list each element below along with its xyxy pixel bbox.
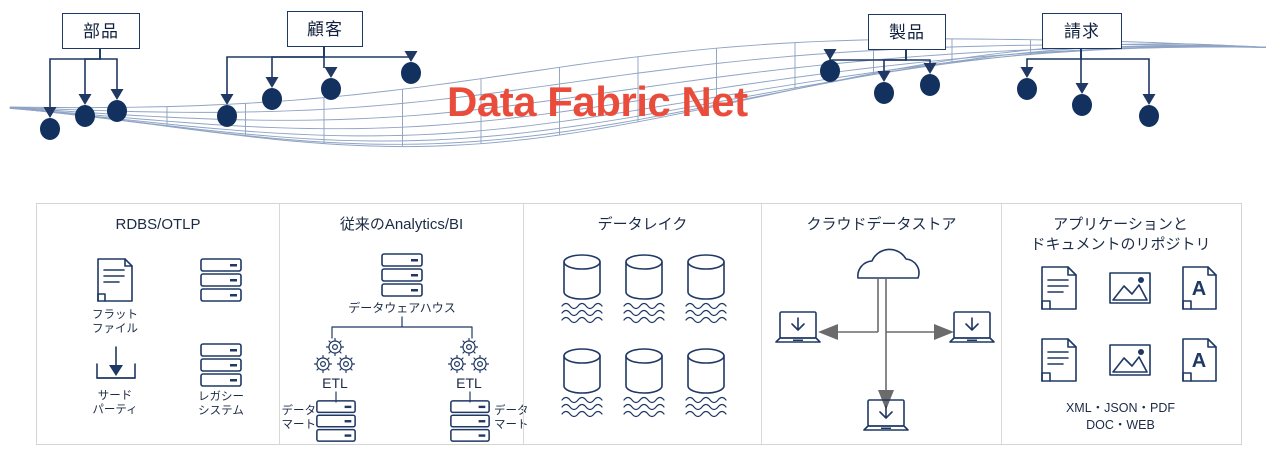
server-rack-icon <box>199 257 243 303</box>
data-lake-cylinder <box>680 252 732 328</box>
data-lake-cylinder <box>556 252 608 328</box>
panel-data-lake: データレイク <box>523 204 761 444</box>
image-document-icon <box>1108 264 1152 312</box>
cylinder-icon <box>564 349 600 393</box>
svg-text:A: A <box>1192 278 1206 300</box>
warehouse-branch-connector <box>326 317 478 339</box>
cylinder-icon <box>688 255 724 299</box>
flat-file-label: フラット ファイル <box>55 308 175 337</box>
callout-label: 製品 <box>889 24 925 41</box>
callout-box-parts[interactable]: 部品 <box>62 13 140 49</box>
water-waves-icon <box>562 398 602 417</box>
cylinder-icon <box>688 349 724 393</box>
callout-box-billing[interactable]: 請求 <box>1042 13 1122 49</box>
text-document-icon <box>1038 336 1082 384</box>
cylinder-icon <box>564 255 600 299</box>
cloud-icon <box>858 249 919 278</box>
water-waves-icon <box>624 304 664 323</box>
letter-document-icon: A <box>1178 336 1222 384</box>
callout-label: 請求 <box>1064 23 1100 40</box>
water-waves-icon <box>686 398 726 417</box>
formats-line-2: DOC・WEB <box>1002 417 1239 434</box>
page-title: Data Fabric Net <box>447 78 748 126</box>
data-lake-cylinder <box>680 346 732 422</box>
cylinder-icon <box>626 349 662 393</box>
water-waves-icon <box>562 304 602 323</box>
callout-box-product[interactable]: 製品 <box>868 14 946 50</box>
water-waves-icon <box>624 398 664 417</box>
water-waves-icon <box>686 304 726 323</box>
third-party-label: サード パーティ <box>55 389 175 418</box>
image-document-icon <box>1108 336 1152 384</box>
formats-line-1: XML・JSON・PDF <box>1002 400 1239 417</box>
callout-label: 部品 <box>83 23 119 40</box>
etl-label-right: ETL <box>431 375 507 393</box>
laptop-icon <box>776 312 820 342</box>
flat-file-icon <box>95 256 135 304</box>
panel-title: 従来のAnalytics/BI <box>280 215 523 235</box>
server-rack-icon <box>199 342 243 388</box>
source-systems-panel-strip: RDBS/OTLP フラット ファイル <box>36 203 1242 445</box>
panel-legacy-analytics-bi: 従来のAnalytics/BI データウェアハウス <box>279 204 523 444</box>
third-party-icon <box>93 345 139 387</box>
panel-title: RDBS/OTLP <box>37 215 279 235</box>
data-lake-cylinder-grid <box>524 248 762 428</box>
cloud-distribution-diagram <box>770 242 994 438</box>
document-icon-grid: AA <box>1002 264 1240 414</box>
callout-label: 顧客 <box>307 21 343 38</box>
laptop-icon <box>950 312 994 342</box>
data-warehouse-icon <box>380 252 424 298</box>
data-fabric-net-illustration: 部品 顧客 製品 請求 Data Fabric Net <box>0 0 1280 200</box>
etl-gears-icon <box>310 337 360 377</box>
data-fabric-diagram: 部品 顧客 製品 請求 Data Fabric Net RDBS/OTLP <box>0 0 1280 467</box>
data-lake-cylinder <box>618 252 670 328</box>
cylinder-icon <box>626 255 662 299</box>
svg-text:A: A <box>1192 350 1206 372</box>
panel-title: クラウドデータストア <box>762 215 1001 235</box>
legacy-system-label: レガシー システム <box>161 390 281 419</box>
formats-caption: XML・JSON・PDF DOC・WEB <box>1002 400 1239 434</box>
etl-label-left: ETL <box>297 375 373 393</box>
text-document-icon <box>1038 264 1082 312</box>
data-lake-cylinder <box>556 346 608 422</box>
panel-rdbs-otlp: RDBS/OTLP フラット ファイル <box>37 204 279 444</box>
panel-cloud-data-store: クラウドデータストア <box>761 204 1001 444</box>
data-lake-cylinder <box>618 346 670 422</box>
panel-apps-document-repository: アプリケーションと ドキュメントのリポジトリ AA XML・JSON・PDF D… <box>1001 204 1239 444</box>
etl-gears-icon <box>444 337 494 377</box>
data-mart-icon <box>314 399 358 443</box>
letter-document-icon: A <box>1178 264 1222 312</box>
callout-box-customer[interactable]: 顧客 <box>287 11 363 47</box>
panel-title: データレイク <box>524 215 761 235</box>
data-warehouse-label: データウェアハウス <box>292 301 512 316</box>
data-mart-icon <box>448 399 492 443</box>
panel-title: アプリケーションと ドキュメントのリポジトリ <box>1002 215 1239 256</box>
data-mart-label-left: データ マート <box>272 404 316 433</box>
